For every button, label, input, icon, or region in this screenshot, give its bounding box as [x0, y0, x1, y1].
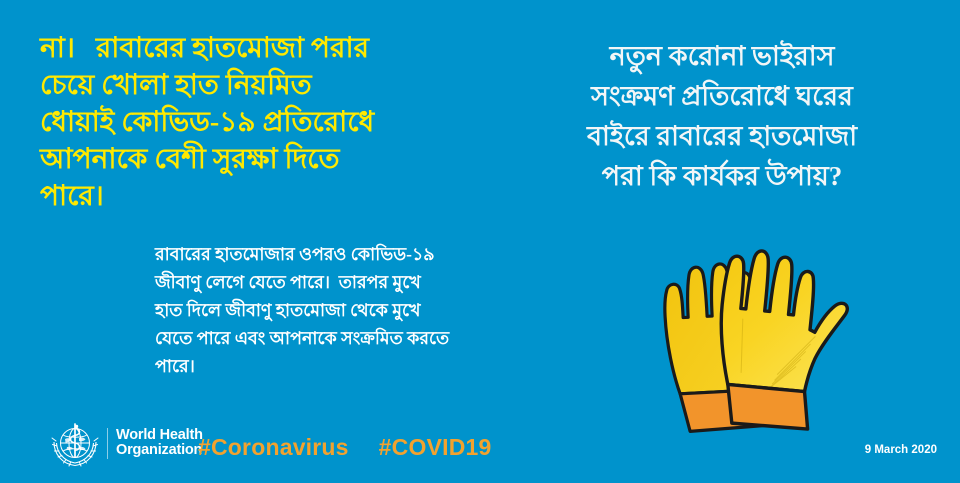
footer: World Health Organization #Coronavirus #…	[0, 415, 960, 473]
question-heading-line-4: পরা কি কার্যকর উপায়?	[496, 156, 948, 196]
who-wordmark: World Health Organization	[107, 428, 203, 459]
who-wordmark-line-2: Organization	[116, 443, 203, 459]
explanation-line-4: যেতে পারে এবং আপনাকে সংক্রমিত করতে	[155, 324, 625, 352]
explanation-paragraph: রাবারের হাতমোজার ওপরও কোভিড-১৯ জীবাণু লে…	[155, 240, 625, 380]
answer-heading: না। রাবারের হাতমোজা পরার চেয়ে খোলা হাত …	[40, 30, 500, 215]
explanation-line-3: হাত দিলে জীবাণু হাতমোজা থেকে মুখে	[155, 296, 625, 324]
answer-heading-line-3: ধোয়াই কোভিড-১৯ প্রতিরোধে	[40, 104, 500, 141]
question-heading-line-3: বাইরে রাবারের হাতমোজা	[496, 116, 948, 156]
date-stamp: 9 March 2020	[865, 444, 937, 456]
hashtag-covid19[interactable]: #COVID19	[379, 434, 492, 461]
who-covid19-gloves-poster: না। রাবারের হাতমোজা পরার চেয়ে খোলা হাত …	[0, 0, 960, 483]
hashtag-coronavirus[interactable]: #Coronavirus	[198, 434, 349, 461]
question-heading-line-2: সংক্রমণ প্রতিরোধে ঘরের	[496, 76, 948, 116]
who-logo-lockup: World Health Organization	[50, 418, 203, 468]
explanation-line-2: জীবাণু লেগে যেতে পারে। তারপর মুখে	[155, 268, 625, 296]
answer-heading-line-5: পারে।	[40, 178, 500, 215]
who-emblem-icon	[50, 418, 100, 468]
answer-heading-line-4: আপনাকে বেশী সুরক্ষা দিতে	[40, 141, 500, 178]
explanation-line-1: রাবারের হাতমোজার ওপরও কোভিড-১৯	[155, 240, 625, 268]
hashtag-group: #Coronavirus #COVID19	[198, 434, 492, 461]
glove-front	[710, 247, 852, 433]
explanation-line-5: পারে।	[155, 352, 625, 380]
answer-heading-line-2: চেয়ে খোলা হাত নিয়মিত	[40, 67, 500, 104]
question-heading-line-1: নতুন করোনা ভাইরাস	[496, 36, 948, 76]
answer-heading-line-1: না। রাবারের হাতমোজা পরার	[40, 30, 500, 67]
question-heading: নতুন করোনা ভাইরাস সংক্রমণ প্রতিরোধে ঘরের…	[496, 36, 948, 196]
who-wordmark-line-1: World Health	[116, 428, 203, 444]
